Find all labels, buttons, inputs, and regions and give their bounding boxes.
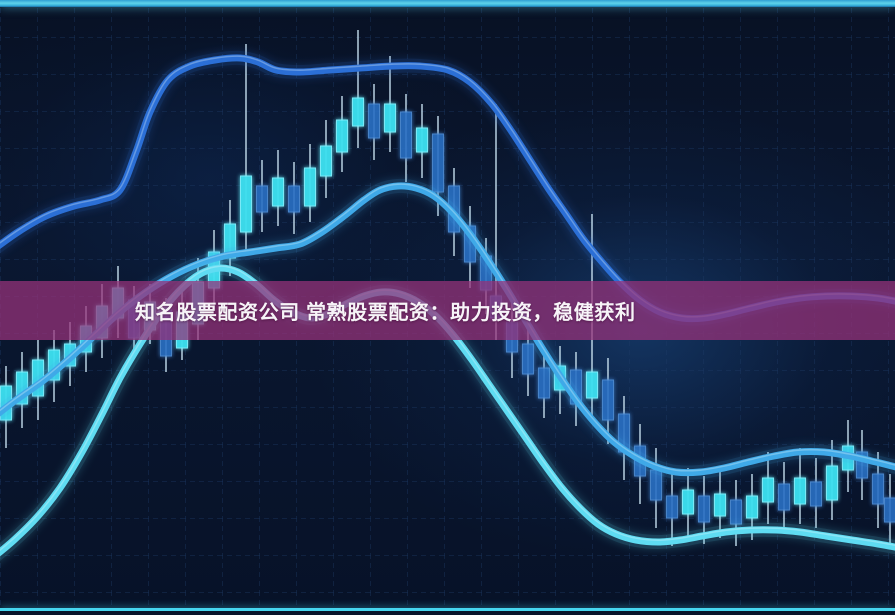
bottom-padding <box>0 611 895 615</box>
candle-body <box>587 372 598 398</box>
candle-body <box>539 368 550 398</box>
stock-chart-banner-image: 知名股票配资公司 常熟股票配资：助力投资，稳健获利 <box>0 0 895 615</box>
candle-body <box>385 104 396 132</box>
candle-body <box>811 482 822 506</box>
candle-body <box>241 176 252 232</box>
candle-body <box>885 498 895 522</box>
candle-body <box>763 478 774 502</box>
candle-body <box>433 134 444 192</box>
candle-body <box>337 120 348 152</box>
candle-body <box>369 104 380 138</box>
ma-line-glow <box>0 58 895 319</box>
candle-body <box>715 494 726 516</box>
candle-body <box>523 344 534 374</box>
candle-body <box>289 186 300 212</box>
candle-body <box>827 466 838 500</box>
candle-body <box>305 168 316 206</box>
candle-body <box>731 500 742 524</box>
candle-body <box>417 128 428 152</box>
candle-body <box>257 186 268 212</box>
candle-body <box>321 146 332 176</box>
candle-body <box>683 490 694 514</box>
candle-body <box>795 478 806 504</box>
ma-line <box>0 58 895 319</box>
promo-banner: 知名股票配资公司 常熟股票配资：助力投资，稳健获利 <box>0 281 895 340</box>
ma-line-highlight <box>0 56 895 317</box>
candle-body <box>603 380 614 420</box>
candle-body <box>873 474 884 504</box>
candle-body <box>353 98 364 126</box>
candle-body <box>747 496 758 518</box>
candle-body <box>779 484 790 510</box>
candle-body <box>699 496 710 522</box>
promo-banner-text: 知名股票配资公司 常熟股票配资：助力投资，稳健获利 <box>135 296 636 325</box>
candle-body <box>401 112 412 158</box>
candle-body <box>273 178 284 206</box>
candle-body <box>667 496 678 518</box>
top-accent-rule <box>0 0 895 7</box>
